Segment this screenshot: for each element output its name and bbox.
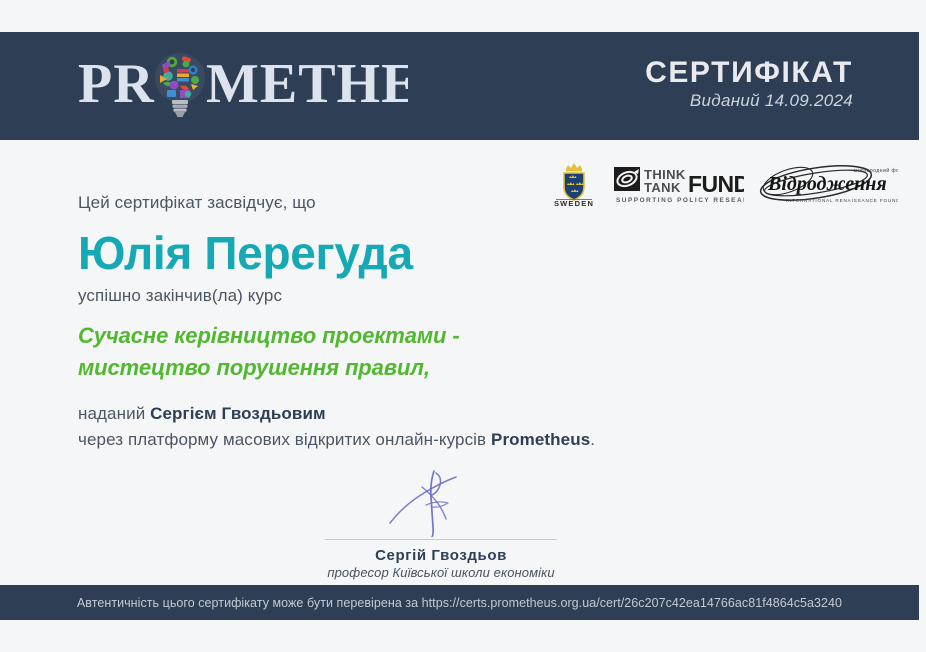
vidrodzhennia-subtitle: INTERNATIONAL RENAISSANCE FOUNDATION <box>786 198 898 203</box>
certificate-footer: Автентичність цього сертифікату може бут… <box>0 585 919 620</box>
recipient-name: Юлія Перегуда <box>78 226 638 280</box>
platform-line: через платформу масових відкритих онлайн… <box>78 427 638 453</box>
handwritten-signature-icon <box>376 465 506 537</box>
granted-prefix: наданий <box>78 404 150 423</box>
signer-title: професор Київської школи економіки <box>325 565 557 580</box>
signature-mark <box>325 465 557 537</box>
prometheus-logo-icon: PR <box>78 50 408 122</box>
signature-rule <box>325 539 557 540</box>
think-tank-fund-line2: TANK <box>644 180 681 195</box>
intro-line: Цей сертифікат засвідчує, що <box>78 192 638 214</box>
vidrodzhennia-logo-icon: Відродження міжнародний фонд INTERNATION… <box>758 161 898 207</box>
think-tank-fund-word: FUND <box>688 171 744 197</box>
certificate: PR <box>0 0 926 652</box>
certificate-header: PR <box>0 32 919 140</box>
signature-block: Сергій Гвоздьов професор Київської школи… <box>325 465 557 580</box>
course-title-line-2: мистецтво порушення правил, <box>78 355 430 380</box>
platform-suffix: . <box>590 430 595 449</box>
course-title-line-1: Сучасне керівництво проектами - <box>78 323 460 348</box>
certificate-issue-date: Виданий 14.09.2024 <box>645 91 853 111</box>
platform-prefix: через платформу масових відкритих онлайн… <box>78 430 491 449</box>
instructor-line: наданий Сергієм Гвоздьовим <box>78 401 638 427</box>
vidrodzhennia-wordmark: Відродження <box>767 173 887 195</box>
instructor-name: Сергієм Гвоздьовим <box>150 404 326 423</box>
prometheus-logo: PR <box>78 32 408 140</box>
vidrodzhennia-supertitle: міжнародний фонд <box>854 167 898 174</box>
svg-text:METHEUS: METHEUS <box>206 53 408 115</box>
platform-name: Prometheus <box>491 430 590 449</box>
verification-text: Автентичність цього сертифікату може бут… <box>77 596 842 610</box>
completion-line: успішно закінчив(ла) курс <box>78 286 638 306</box>
signer-name: Сергій Гвоздьов <box>325 547 557 564</box>
svg-text:PR: PR <box>78 53 155 115</box>
certificate-body: Цей сертифікат засвідчує, що Юлія Перегу… <box>78 192 638 454</box>
certificate-header-right: СЕРТИФІКАТ Виданий 14.09.2024 <box>645 57 853 115</box>
certificate-title: СЕРТИФІКАТ <box>645 57 853 89</box>
course-title: Сучасне керівництво проектами - мистецтв… <box>78 320 638 382</box>
